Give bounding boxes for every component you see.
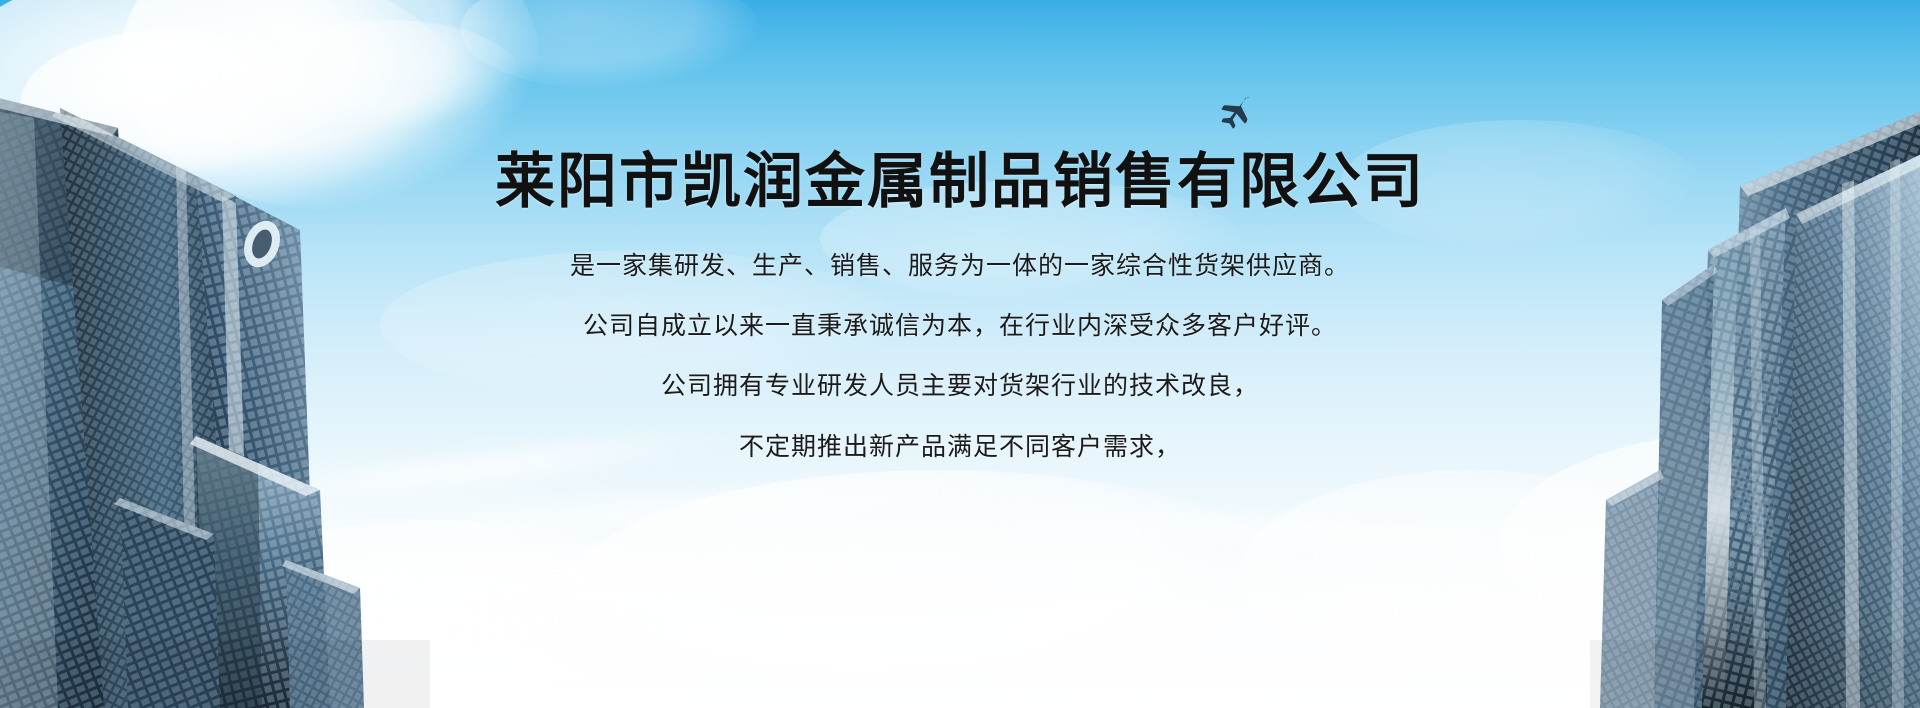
description-line-1: 是一家集研发、生产、销售、服务为一体的一家综合性货架供应商。 — [570, 253, 1350, 279]
description-line-2: 公司自成立以来一直秉承诚信为本，在行业内深受众多客户好评。 — [583, 313, 1337, 339]
description-line-3: 公司拥有专业研发人员主要对货架行业的技术改良， — [661, 373, 1259, 399]
description-line-4: 不定期推出新产品满足不同客户需求， — [739, 434, 1181, 460]
hero-banner: 莱阳市凯润金属制品销售有限公司 是一家集研发、生产、销售、服务为一体的一家综合性… — [0, 0, 1920, 708]
page-title: 莱阳市凯润金属制品销售有限公司 — [495, 150, 1425, 215]
banner-content: 莱阳市凯润金属制品销售有限公司 是一家集研发、生产、销售、服务为一体的一家综合性… — [0, 0, 1920, 708]
